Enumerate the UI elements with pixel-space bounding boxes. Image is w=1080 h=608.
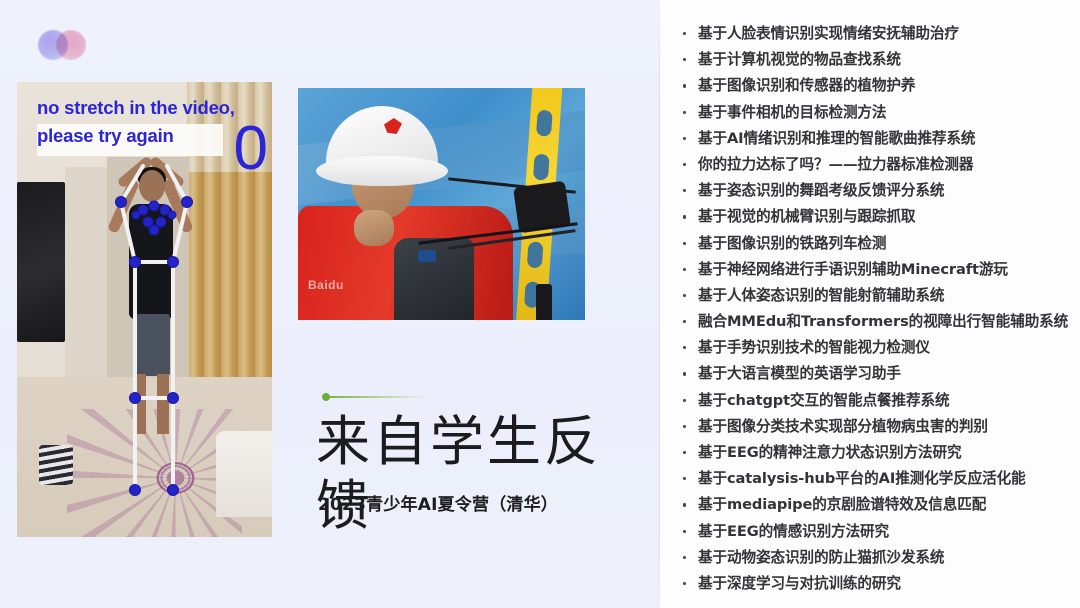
archery-photo: Baidu xyxy=(298,88,585,320)
list-item: 基于深度学习与对抗训练的研究 xyxy=(680,574,1070,593)
baidu-watermark: Baidu xyxy=(308,278,344,292)
list-item: 基于大语言模型的英语学习助手 xyxy=(680,364,1070,383)
bow-cutout-2 xyxy=(533,154,550,181)
pose-estimation-image: no stretch in the video, please try agai… xyxy=(17,82,272,537)
list-item: 基于动物姿态识别的防止猫抓沙发系统 xyxy=(680,548,1070,567)
list-item: 基于图像识别和传感器的植物护养 xyxy=(680,76,1070,95)
list-item: 基于图像分类技术实现部分植物病虫害的判别 xyxy=(680,417,1070,436)
page-title: 来自学生反馈 xyxy=(316,410,646,538)
bow-cutout-3 xyxy=(527,241,544,268)
presentation-slide: no stretch in the video, please try agai… xyxy=(0,0,1080,608)
overlapping-circles-logo xyxy=(38,30,86,60)
chest-badge xyxy=(418,250,436,262)
bow-cutout-1 xyxy=(536,110,553,137)
list-item: 基于人脸表情识别实现情绪安抚辅助治疗 xyxy=(680,24,1070,43)
list-item: 基于catalysis-hub平台的AI推测化学反应活化能 xyxy=(680,469,1070,488)
heading-accent-decorator xyxy=(322,393,434,401)
logo-circle-right xyxy=(56,30,86,60)
panel-divider xyxy=(659,0,660,608)
list-item: 你的拉力达标了吗？——拉力器标准检测器 xyxy=(680,155,1070,174)
list-item: …… xyxy=(680,600,1070,608)
list-item: 基于手势识别技术的智能视力检测仪 xyxy=(680,338,1070,357)
list-item: 基于chatgpt交互的智能点餐推荐系统 xyxy=(680,391,1070,410)
list-item: 基于人体姿态识别的智能射箭辅助系统 xyxy=(680,286,1070,305)
student-feedback-topic-list: 基于人脸表情识别实现情绪安抚辅助治疗 基于计算机视觉的物品查找系统 基于图像识别… xyxy=(680,24,1070,608)
list-item: 基于EEG的精神注意力状态识别方法研究 xyxy=(680,443,1070,462)
list-item: 基于神经网络进行手语识别辅助Minecraft游玩 xyxy=(680,260,1070,279)
pose-caption-line-2: please try again xyxy=(37,122,265,150)
list-item: 基于AI情绪识别和推理的智能歌曲推荐系统 xyxy=(680,129,1070,148)
list-item: 基于mediapipe的京剧脸谱特效及信息匹配 xyxy=(680,495,1070,514)
page-subtitle: 2023青少年AI夏令营（清华） xyxy=(318,490,648,515)
hat-brim xyxy=(316,156,448,186)
accent-line xyxy=(328,396,434,398)
list-item: 基于视觉的机械臂识别与跟踪抓取 xyxy=(680,207,1070,226)
list-item: 融合MMEdu和Transformers的视障出行智能辅助系统 xyxy=(680,312,1070,331)
bow-stabilizer xyxy=(536,284,552,320)
pose-caption: no stretch in the video, please try agai… xyxy=(37,94,265,150)
list-item: 基于姿态识别的舞蹈考级反馈评分系统 xyxy=(680,181,1070,200)
pose-caption-line-1: no stretch in the video, xyxy=(37,94,265,122)
drawing-hand xyxy=(354,210,394,246)
list-item: 基于事件相机的目标检测方法 xyxy=(680,103,1070,122)
list-item: 基于计算机视觉的物品查找系统 xyxy=(680,50,1070,69)
list-item: 基于EEG的情感识别方法研究 xyxy=(680,522,1070,541)
accent-dot xyxy=(322,393,330,401)
list-item: 基于图像识别的铁路列车检测 xyxy=(680,234,1070,253)
